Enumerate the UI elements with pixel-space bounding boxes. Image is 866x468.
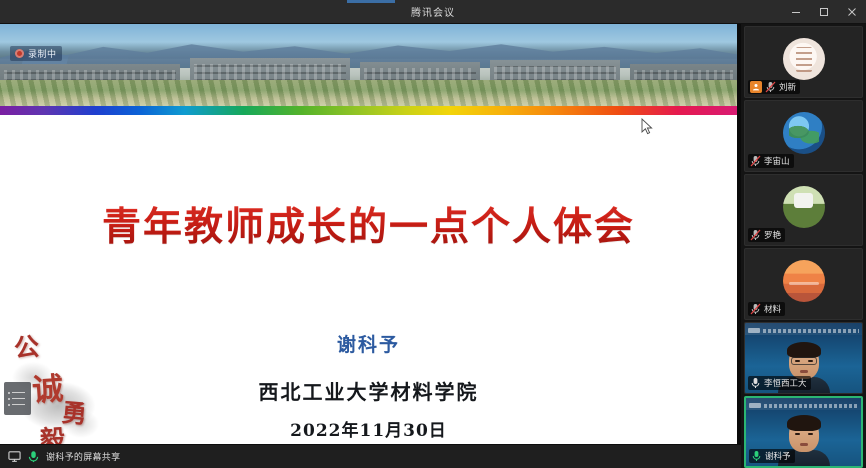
list-line-icon — [12, 404, 25, 406]
mouse-cursor — [641, 118, 653, 135]
list-line-icon — [12, 398, 25, 400]
toolbar-row — [8, 404, 27, 406]
avatar — [783, 260, 825, 302]
minimize-button[interactable] — [782, 0, 810, 24]
recording-indicator: 录制中 — [10, 46, 62, 61]
participant-rail[interactable]: 刘新 李宙山 — [741, 24, 866, 468]
backdrop-logo-icon — [748, 328, 760, 333]
list-line-icon — [12, 392, 25, 394]
participant-tile[interactable]: 刘新 — [744, 26, 863, 98]
participant-name: 李宙山 — [764, 155, 790, 167]
participant-name: 材料 — [764, 303, 781, 315]
participant-label: 李宙山 — [748, 154, 794, 168]
participant-tile[interactable]: 罗艳 — [744, 174, 863, 246]
window-controls — [782, 0, 866, 24]
record-dot-icon — [15, 49, 24, 58]
motto-char: 诚 — [30, 363, 64, 410]
backdrop-text — [764, 404, 858, 408]
slide-organization: 西北工业大学材料学院 — [0, 376, 737, 405]
mic-muted-icon — [750, 303, 761, 315]
participant-tile[interactable]: 李恒西工大 — [744, 322, 863, 394]
toolbar-row — [8, 398, 27, 400]
monitor-icon — [8, 450, 21, 463]
slide-title: 青年教师成长的一点个人体会 — [0, 196, 737, 252]
slide-banner-photo: 录制中 — [0, 24, 737, 106]
video-backdrop-banner — [748, 326, 859, 335]
participant-name: 罗艳 — [764, 229, 781, 241]
participant-name: 李恒西工大 — [764, 377, 807, 389]
backdrop-logo-icon — [749, 403, 761, 408]
avatar — [783, 38, 825, 80]
eye — [795, 360, 800, 362]
participant-label: 李恒西工大 — [748, 376, 811, 390]
face — [789, 418, 819, 452]
slide-rainbow-divider — [0, 106, 737, 115]
university-motto-seal: 公 诚 勇 毅 — [4, 320, 108, 444]
eye — [808, 360, 813, 362]
eye — [795, 433, 800, 435]
title-bar: 腾讯会议 — [0, 0, 866, 24]
close-icon — [847, 7, 857, 17]
participant-label: 材料 — [748, 302, 785, 316]
toolbar-row — [8, 392, 27, 394]
close-button[interactable] — [838, 0, 866, 24]
hair — [787, 415, 821, 431]
slide-annotation-toolbar[interactable] — [4, 382, 31, 415]
participant-name: 谢科予 — [765, 450, 791, 462]
app-title: 腾讯会议 — [411, 4, 455, 19]
mouth — [800, 443, 808, 446]
host-badge — [750, 81, 762, 93]
participant-tile[interactable]: 谢科予 — [744, 396, 863, 468]
hair — [787, 342, 821, 358]
banner-greenery — [0, 80, 737, 106]
participant-label: 刘新 — [748, 80, 800, 94]
avatar — [783, 112, 825, 154]
participant-tile[interactable]: 李宙山 — [744, 100, 863, 172]
share-status-label: 谢科予的屏幕共享 — [46, 450, 120, 463]
active-tab-indicator — [347, 0, 395, 3]
eye — [808, 433, 813, 435]
participant-tile[interactable]: 材料 — [744, 248, 863, 320]
recording-label: 录制中 — [28, 47, 57, 60]
slide-author: 谢科予 — [0, 330, 737, 357]
mic-muted-icon — [750, 155, 761, 167]
face — [789, 345, 819, 379]
mic-muted-icon — [750, 229, 761, 241]
avatar — [783, 186, 825, 228]
meeting-window: 腾讯会议 — [0, 0, 866, 468]
motto-char: 勇 — [60, 393, 88, 431]
shared-screen-stage[interactable]: 录制中 青年教师成长的一点个人体会 谢科予 西北工业大学材料学院 2022年11… — [0, 24, 737, 444]
motto-char: 公 — [12, 327, 41, 365]
microphone-icon[interactable] — [27, 450, 40, 463]
motto-char: 毅 — [39, 419, 66, 444]
backdrop-text — [763, 329, 859, 333]
mic-active-icon — [751, 450, 762, 462]
maximize-button[interactable] — [810, 0, 838, 24]
host-person-icon — [752, 83, 760, 91]
mouth — [800, 370, 808, 373]
slide-date: 2022年11月30日 — [0, 416, 737, 441]
bullet-dot-icon — [8, 398, 10, 400]
bullet-dot-icon — [8, 392, 10, 394]
mic-muted-icon — [750, 377, 761, 389]
screen-share-status-bar: 谢科予的屏幕共享 — [0, 444, 741, 468]
video-backdrop-banner — [749, 401, 858, 410]
participant-label: 谢科予 — [749, 449, 795, 463]
bullet-dot-icon — [8, 404, 10, 406]
mic-muted-icon — [765, 81, 776, 93]
participant-label: 罗艳 — [748, 228, 785, 242]
participant-name: 刘新 — [779, 81, 796, 93]
minimize-icon — [791, 7, 801, 17]
maximize-icon — [819, 7, 829, 17]
